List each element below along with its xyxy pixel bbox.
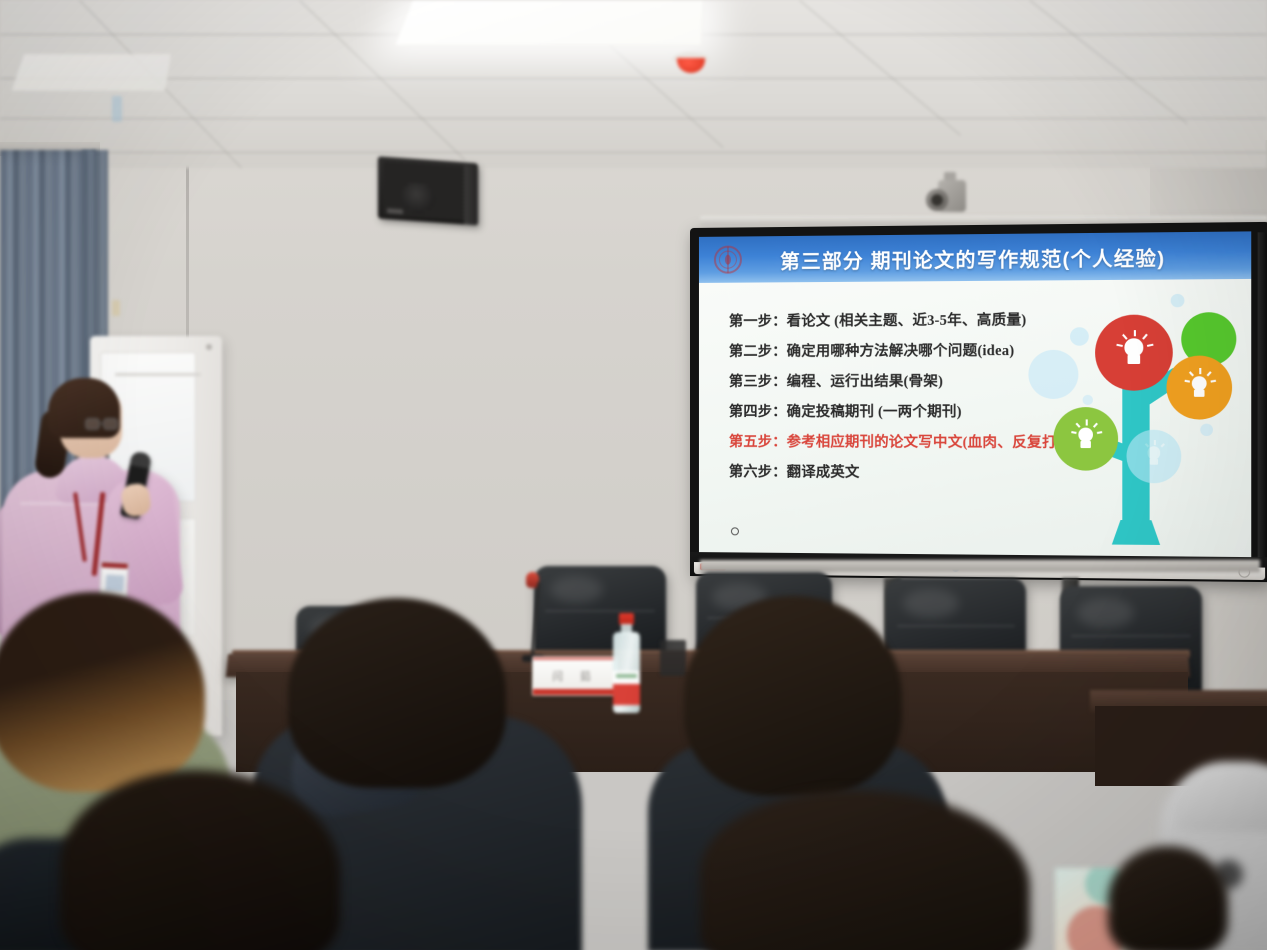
lightbulb-node-lightgreen [1053,407,1118,471]
slide-line-5: 第五步：参考相应期刊的论文写中文(血肉、反复打磨) [729,427,1066,458]
desk-name-card: 闫 茹 [532,656,618,696]
eyeglasses [85,418,119,430]
slide-line-4: 第四步：确定投稿期刊 (一两个期刊) [729,397,1066,428]
audience-hair [288,598,506,788]
ac-sticker [112,96,122,122]
ac-sticker-lower [112,300,120,316]
wall-speaker [378,157,478,226]
interactive-display[interactable]: 第三部分 期刊论文的写作规范(个人经验) 第一步：看论文 (相关主题、近3-5年… [690,222,1267,582]
desk-folder [660,640,686,676]
slide-line-6: 第六步：翻译成英文 [729,457,1066,489]
ceiling [0,0,1267,168]
ceiling-light-panel [394,0,704,46]
smoke-detector-icon [672,52,710,75]
audience-hair [684,596,902,796]
slide-bullet-marker [731,527,739,535]
name-card-text: 闫 茹 [552,668,598,684]
ptz-conference-camera[interactable] [926,178,968,220]
slide-title-text: 第三部分 期刊论文的写作规范(个人经验) [780,241,1165,274]
lecture-room-photo: 第三部分 期刊论文的写作规范(个人经验) 第一步：看论文 (相关主题、近3-5年… [0,0,1267,950]
slide-line-3: 第三步：编程、运行出结果(骨架) [729,366,1066,397]
lightbulb-node-orange [1166,356,1232,420]
gooseneck-microphone[interactable] [520,570,544,662]
slide-line-2: 第二步：确定用哪种方法解决哪个问题(idea) [729,336,1066,367]
slide-line-1: 第一步：看论文 (相关主题、近3-5年、高质量) [729,305,1066,337]
audience-hair [1108,846,1228,950]
slide-title-band: 第三部分 期刊论文的写作规范(个人经验) [699,231,1251,283]
slide-body: 第一步：看论文 (相关主题、近3-5年、高质量) 第二步：确定用哪种方法解决哪个… [729,305,1066,489]
ceiling-light-panel-secondary [12,54,171,91]
institution-seal-icon [711,242,745,276]
lightbulb-node-red [1095,315,1173,391]
idea-tree-illustration [1045,296,1234,554]
water-bottle[interactable] [613,613,640,713]
audience-member-foreground-right [700,790,1030,950]
lightbulb-node-faded [1127,430,1182,484]
presentation-slide: 第三部分 期刊论文的写作规范(个人经验) 第一步：看论文 (相关主题、近3-5年… [699,231,1251,557]
display-stand-base [700,560,1260,572]
